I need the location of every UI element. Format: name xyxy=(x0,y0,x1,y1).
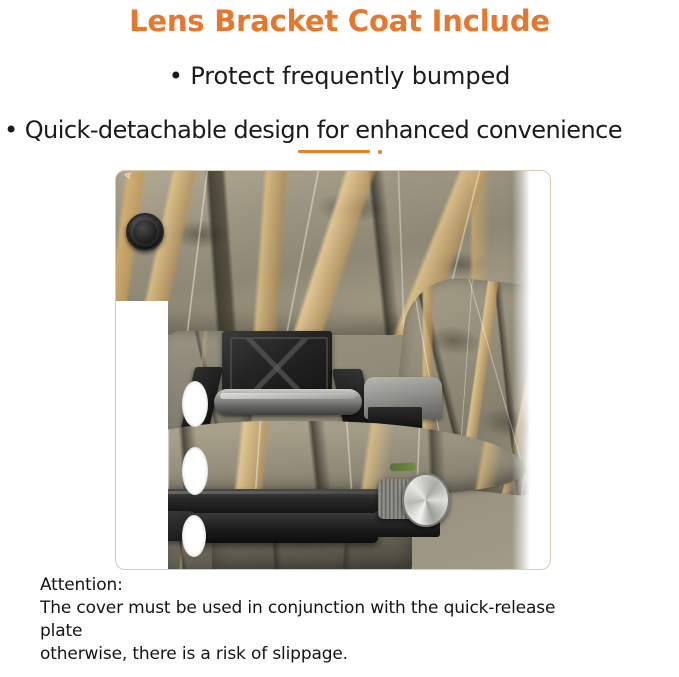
bullet-text-1: Protect frequently bumped xyxy=(190,62,510,90)
bullet-marker-1: • xyxy=(169,62,183,90)
knurled-silver-knob xyxy=(378,473,440,525)
product-photo: ASING xyxy=(116,171,550,569)
rubber-grommet-icon xyxy=(126,213,164,251)
feature-bullet-1: • Protect frequently bumped xyxy=(0,62,679,90)
attention-line-1: The cover must be used in conjunction wi… xyxy=(40,597,679,620)
green-accent-patch xyxy=(390,463,416,472)
gimbal-cutout-2 xyxy=(182,447,208,495)
attention-line-2: plate xyxy=(40,620,679,643)
attention-line-3: otherwise, there is a risk of slippage. xyxy=(40,643,679,666)
photo-right-margin xyxy=(512,171,550,569)
gimbal-cutout-1 xyxy=(182,381,208,427)
photo-left-margin xyxy=(116,301,168,569)
product-infographic: Lens Bracket Coat Include • Protect freq… xyxy=(0,0,679,677)
feature-bullet-2: • Quick-detachable design for enhanced c… xyxy=(4,116,679,144)
bullet-marker-2: • xyxy=(4,116,18,144)
product-photo-panel: ASING xyxy=(115,170,551,570)
page-title: Lens Bracket Coat Include xyxy=(0,4,679,38)
gimbal-cutout-3 xyxy=(182,515,206,557)
attention-heading: Attention: xyxy=(40,574,679,597)
bullet-text-2: Quick-detachable design for enhanced con… xyxy=(25,116,622,144)
camo-saddle xyxy=(116,421,526,495)
accent-underline xyxy=(298,150,370,153)
attention-block: Attention: The cover must be used in con… xyxy=(40,574,679,666)
steel-roller-bar xyxy=(214,389,362,415)
accent-dot xyxy=(378,150,382,154)
knob-face xyxy=(402,473,450,527)
quick-release-plate-lower xyxy=(188,513,378,543)
